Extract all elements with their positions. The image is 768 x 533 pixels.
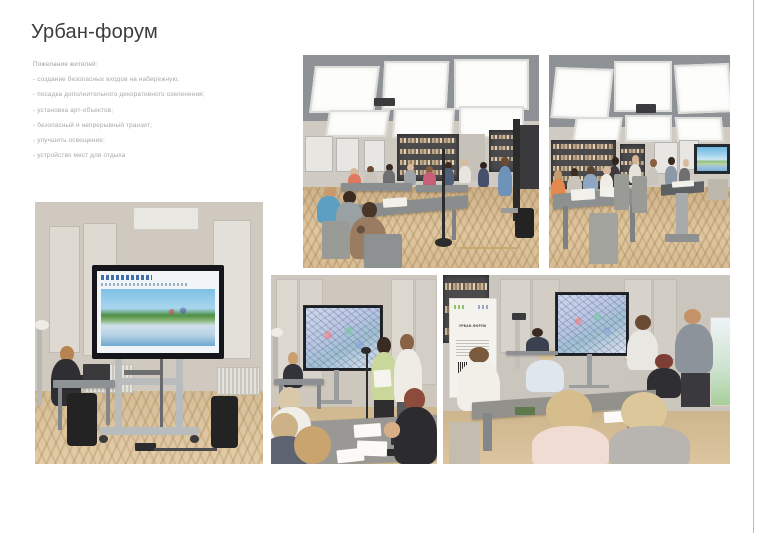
list-lead: Пожелания жителей: [33, 57, 273, 72]
presentation-display [303, 305, 383, 371]
list-item: - улучшить освещение; [33, 133, 273, 148]
presentation-display [92, 265, 224, 359]
loudspeaker [67, 393, 97, 445]
projector [636, 104, 656, 113]
participant [469, 347, 489, 363]
page-title: Урбан-форум [31, 21, 158, 44]
projector [374, 98, 395, 107]
camera [512, 313, 526, 321]
bullet-list: Пожелания жителей: - создание безопасных… [33, 57, 273, 163]
list-item: - создание безопасных входов на набережн… [33, 72, 273, 87]
standing-person [501, 157, 509, 166]
list-item: - установка арт-объектов; [33, 103, 273, 118]
loudspeaker [211, 396, 238, 448]
photo-top-middle [303, 55, 539, 268]
standing-person [635, 315, 651, 330]
list-item: - устройство мест для отдыха [33, 148, 273, 163]
banner-title: УРБАН-ФОРУМ [455, 324, 490, 328]
presentation-display [555, 292, 629, 356]
participant [294, 426, 331, 464]
masterplan-image [558, 295, 626, 353]
air-conditioner [133, 207, 199, 230]
list-item: - посадка дополнительного декоративного … [33, 87, 273, 102]
microphone-stand [442, 149, 444, 243]
slide-content [97, 271, 219, 352]
photo-top-right [549, 55, 730, 268]
photo-bottom-middle [271, 275, 437, 464]
slide-canvas: Урбан-форум Пожелания жителей: - создани… [0, 0, 754, 533]
render-image [101, 289, 215, 346]
photo-bottom-right: УРБАН-ФОРУМ [443, 275, 730, 464]
wall-display [694, 144, 730, 174]
masterplan-image [306, 308, 380, 368]
list-item: - безопасный и непрерывный транзит; [33, 118, 273, 133]
photo-bottom-left [35, 202, 263, 464]
